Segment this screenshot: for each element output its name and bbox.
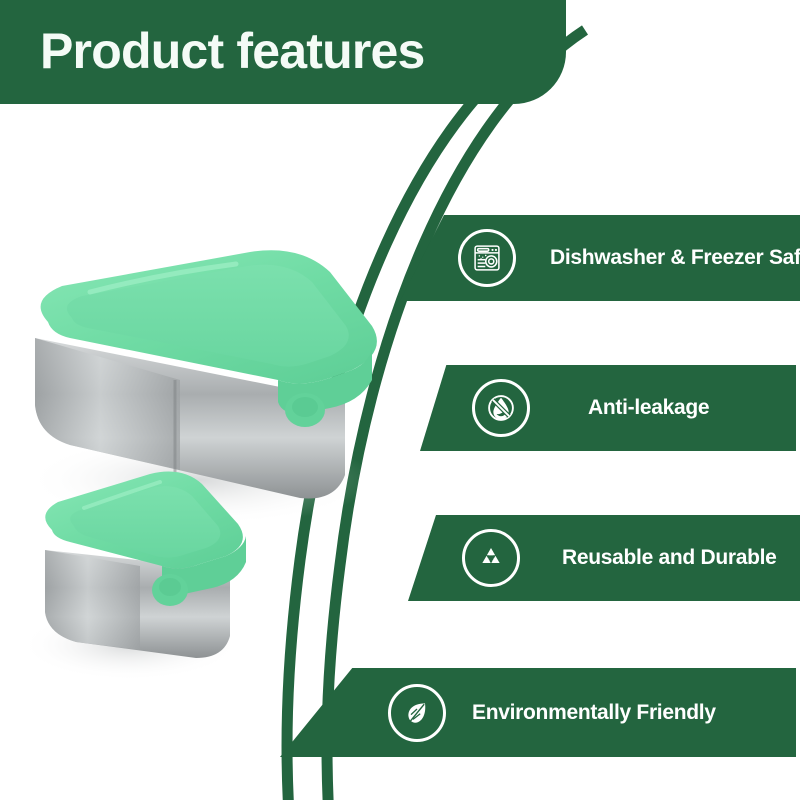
feature-label: Anti-leakage — [588, 396, 709, 420]
product-illustration — [0, 230, 400, 680]
leaf-icon — [388, 684, 446, 742]
no-water-drop-icon — [472, 379, 530, 437]
feature-row-anti-leakage[interactable]: Anti-leakage — [420, 365, 796, 451]
feature-row-environmentally-friendly[interactable]: Environmentally Friendly — [280, 668, 796, 757]
recycle-icon — [462, 529, 520, 587]
product-features-poster: Product features — [0, 0, 800, 800]
feature-label: Reusable and Durable — [562, 546, 777, 570]
dishwasher-icon — [458, 229, 516, 287]
header-banner: Product features — [0, 0, 566, 104]
page-title: Product features — [0, 26, 425, 76]
feature-label: Environmentally Friendly — [472, 701, 716, 725]
product-image — [0, 230, 400, 680]
feature-label: Dishwasher & Freezer Safe — [550, 246, 800, 270]
small-container — [45, 472, 246, 658]
feature-row-dishwasher-freezer-safe[interactable]: Dishwasher & Freezer Safe — [400, 215, 800, 301]
feature-row-reusable-durable[interactable]: Reusable and Durable — [400, 515, 800, 601]
